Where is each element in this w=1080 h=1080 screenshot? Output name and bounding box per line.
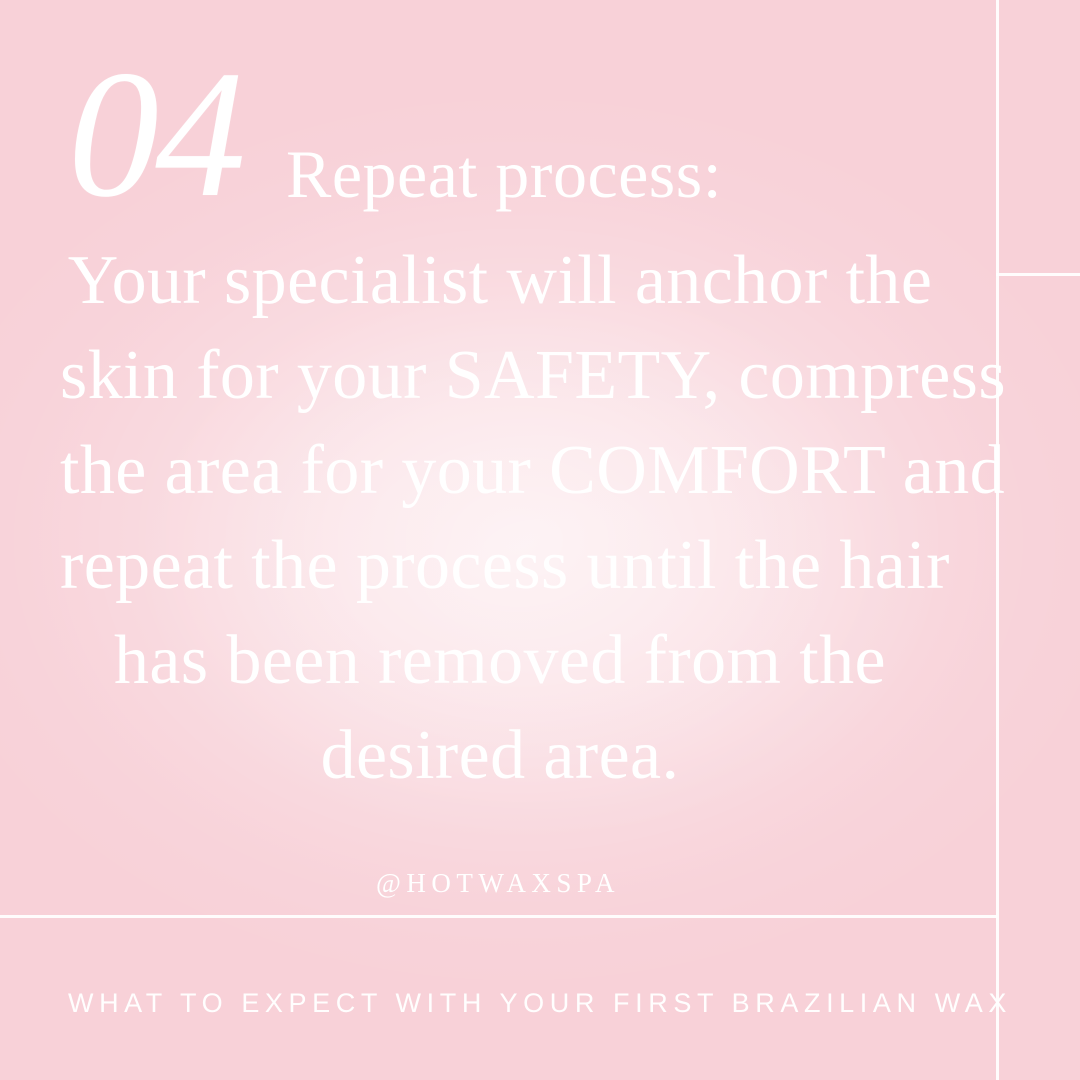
- body-text-block: Your specialist will anchor the skin for…: [60, 233, 940, 803]
- body-text-line: has been removed from the: [60, 613, 940, 708]
- body-text-line: repeat the process until the hair: [60, 518, 940, 613]
- vertical-divider-line: [996, 0, 999, 1080]
- body-text-line: the area for your COMFORT and: [60, 423, 940, 518]
- step-headline: Repeat process:: [286, 140, 722, 208]
- social-post-card: 04 Repeat process: Your specialist will …: [0, 0, 1080, 1080]
- footer-caption: WHAT TO EXPECT WITH YOUR FIRST BRAZILIAN…: [0, 988, 1080, 1019]
- card-content: 04 Repeat process: Your specialist will …: [0, 0, 996, 1080]
- body-text-line: skin for your SAFETY, compress: [60, 328, 940, 423]
- step-number: 04: [68, 44, 242, 226]
- horizontal-divider-line-top-right: [996, 273, 1080, 276]
- social-handle: @HOTWAXSPA: [0, 868, 996, 899]
- body-text-line: desired area.: [60, 708, 940, 803]
- body-text-line: Your specialist will anchor the: [60, 233, 940, 328]
